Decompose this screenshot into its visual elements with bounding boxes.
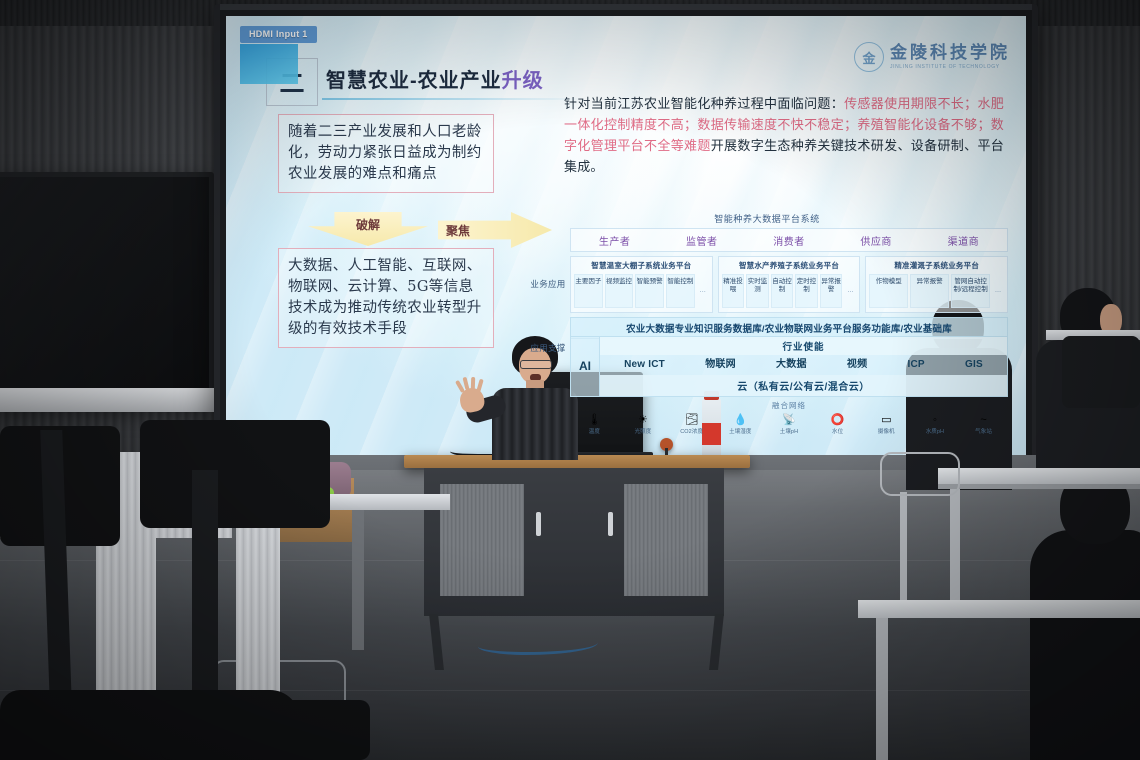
display-bezel [220, 4, 1032, 10]
tech-item: 视频 [847, 360, 867, 371]
panel-cell-ellipsis: … [992, 274, 1004, 308]
podium-panel-right [624, 484, 708, 596]
side-label-support: 应用支撑 [526, 343, 570, 354]
sensor-item: ☀ 光照度 [623, 413, 663, 435]
arrow-down-label: 破解 [356, 216, 380, 233]
sensor-item: 🌡 温度 [574, 413, 614, 435]
camera-icon: ▭ [866, 413, 906, 426]
water-level-icon: ⭕ [818, 413, 858, 426]
podium-handle[interactable] [608, 512, 613, 536]
role-item: 监管者 [686, 233, 718, 248]
desk-right-front [938, 468, 1140, 484]
logo-name-en: JINLING INSTITUTE OF TECHNOLOGY [890, 64, 1010, 70]
foreground-desk-leg [352, 510, 364, 650]
presenter-finger [476, 379, 483, 393]
probe-icon: 📡 [769, 413, 809, 426]
sensor-label: CO2浓度 [672, 427, 712, 435]
chair-post [900, 492, 907, 610]
thermometer-icon: 🌡 [574, 413, 614, 426]
subsystem-panel: 精准灌溉子系统业务平台 作物模型 异常报警 管网自动控制/远程控制 … [865, 256, 1008, 313]
tech-item: ICP [908, 360, 925, 371]
weather-station-icon: ~ [964, 413, 1004, 426]
panel-cell: 实时监测 [746, 274, 769, 308]
desk-edge [938, 484, 1140, 489]
panel-cells: 主要因子 视频监控 智能预警 智能控制 … [574, 274, 709, 308]
arrow-right-label: 聚焦 [446, 222, 470, 239]
sensor-item: ~ 气象站 [964, 413, 1004, 435]
foreground-desk-left [330, 494, 450, 510]
podium-body [424, 468, 724, 616]
tech-item: 物联网 [705, 360, 736, 371]
sun-icon: ☀ [623, 413, 663, 426]
role-item: 供应商 [860, 233, 892, 248]
enablement-stack: AI 行业使能 New ICT 物联网 大数据 视频 ICP GIS 云（私有云… [570, 336, 1008, 398]
logo-name-cn: 金陵科技学院 [890, 44, 1010, 61]
panel-cell-ellipsis: … [697, 274, 709, 308]
sensor-item: ▭ 摄像机 [866, 413, 906, 435]
side-monitor[interactable] [0, 172, 214, 404]
network-label: 融合网络 [570, 400, 1008, 411]
left-text-2: 大数据、人工智能、互联网、物联网、云计算、5G等信息技术成为推动传统农业转型升级… [288, 256, 484, 340]
sensor-label: 水位 [818, 427, 858, 435]
panel-cells: 作物模型 异常报警 管网自动控制/远程控制 … [869, 274, 1004, 308]
diagram-roles-row: 生产者 监管者 消费者 供应商 渠道商 [570, 228, 1008, 252]
presentation-slide: HDMI Input 1 二 智慧农业-农业产业升级 金 金陵科技学院 JINL… [226, 16, 1026, 460]
sensor-label: 温度 [574, 427, 614, 435]
panel-cell: 异常报警 [820, 274, 843, 308]
foreground-chair-bottom2[interactable] [160, 700, 370, 760]
panel-title: 精准灌溉子系统业务平台 [869, 260, 1004, 271]
presenter-finger [471, 377, 475, 390]
subsystem-panels: 智慧温室大棚子系统业务平台 主要因子 视频监控 智能预警 智能控制 … 智慧水产… [570, 256, 1008, 313]
left-text-box-2: 大数据、人工智能、互联网、物联网、云计算、5G等信息技术成为推动传统农业转型升级… [278, 248, 494, 348]
logo-emblem-icon: 金 [854, 42, 884, 72]
left-text-box-1: 随着二三产业发展和人口老龄化，劳动力紧张日益成为制约农业发展的难点和痛点 [278, 114, 494, 193]
hdmi-input-badge: HDMI Input 1 [240, 26, 317, 43]
foreground-chair-mid[interactable] [140, 420, 330, 528]
panel-cell: 视频监控 [605, 274, 634, 308]
classroom-scene: HDMI Input 1 二 智慧农业-农业产业升级 金 金陵科技学院 JINL… [0, 0, 1140, 760]
tech-item: New ICT [624, 360, 665, 371]
panel-cell: 精准投喂 [722, 274, 745, 308]
panel-title: 智慧温室大棚子系统业务平台 [574, 260, 709, 271]
co2-icon: 🌫 [672, 413, 712, 426]
chair-back-right [1062, 336, 1140, 408]
enable-bar: 行业使能 [600, 337, 1007, 355]
subsystem-panel: 智慧温室大棚子系统业务平台 主要因子 视频监控 智能预警 智能控制 … [570, 256, 713, 313]
panel-cell: 管网自动控制/远程控制 [951, 274, 990, 308]
water-drop-icon: 💧 [720, 413, 760, 426]
sensor-item: ◦ 水质pH [915, 413, 955, 435]
chair-rail[interactable] [880, 452, 960, 496]
desk-leg [876, 618, 888, 760]
panel-cells: 精准投喂 实时监测 自动控制 定时控制 异常报警 … [722, 274, 857, 308]
panel-cell: 自动控制 [771, 274, 794, 308]
diagram-title: 智能种养大数据平台系统 [526, 212, 1008, 225]
panel-cell: 异常报警 [910, 274, 949, 308]
right-paragraph: 针对当前江苏农业智能化种养过程中面临问题：传感器使用期限不长；水肥一体化控制精度… [564, 94, 1004, 178]
role-item: 消费者 [773, 233, 805, 248]
student-torso [1030, 530, 1140, 760]
podium-panel-left [440, 484, 524, 596]
panel-cell: 作物模型 [869, 274, 908, 308]
business-application-row: 业务应用 智慧温室大棚子系统业务平台 主要因子 视频监控 智能预警 智能控制 … [526, 256, 1008, 313]
sensor-label: 摄像机 [866, 427, 906, 435]
role-item: 生产者 [599, 233, 631, 248]
role-item: 渠道商 [948, 233, 980, 248]
sensor-label: 光照度 [623, 427, 663, 435]
stack-right: 行业使能 New ICT 物联网 大数据 视频 ICP GIS 云（私有云/公有… [600, 337, 1007, 397]
podium-handle[interactable] [536, 512, 541, 536]
tech-item: GIS [965, 360, 983, 371]
tech-item: 大数据 [776, 360, 807, 371]
sensor-label: 土壤pH [769, 427, 809, 435]
sensor-label: 土壤湿度 [720, 427, 760, 435]
side-monitor-screen [0, 177, 209, 399]
slide-title: 智慧农业-农业产业升级 [326, 64, 544, 93]
ph-meter-icon: ◦ [915, 413, 955, 426]
left-counter [0, 388, 220, 412]
sensor-icon-row: 🌡 温度 ☀ 光照度 🌫 CO2浓度 💧 土壤湿度 [570, 413, 1008, 435]
sensor-item: 🌫 CO2浓度 [672, 413, 712, 435]
sensor-label: 气象站 [964, 427, 1004, 435]
paragraph-lead: 针对当前江苏农业智能化种养过程中面临问题： [564, 97, 844, 112]
sensor-label: 水质pH [915, 427, 955, 435]
title-underline [322, 98, 584, 100]
projection-display[interactable]: HDMI Input 1 二 智慧农业-农业产业升级 金 金陵科技学院 JINL… [214, 4, 1038, 472]
slide-title-main: 智慧农业-农业产业 [326, 70, 502, 92]
ai-label: AI [571, 337, 600, 397]
panel-cell: 智能预警 [635, 274, 664, 308]
sensor-item: 📡 土壤pH [769, 413, 809, 435]
panel-title: 智慧水产养殖子系统业务平台 [722, 260, 857, 271]
panel-cell: 智能控制 [666, 274, 695, 308]
sensor-item: 💧 土壤湿度 [720, 413, 760, 435]
desk-leg [950, 489, 960, 609]
school-logo: 金 金陵科技学院 JINLING INSTITUTE OF TECHNOLOGY [854, 42, 1010, 72]
slide-title-highlight: 升级 [502, 70, 544, 92]
desk-right-foreground [858, 600, 1140, 618]
side-label-business: 业务应用 [526, 256, 570, 313]
hdmi-blue-square [240, 44, 298, 84]
cloud-bar: 云（私有云/公有云/混合云） [600, 375, 1007, 396]
left-text-1: 随着二三产业发展和人口老龄化，劳动力紧张日益成为制约农业发展的难点和痛点 [288, 122, 484, 185]
platform-diagram: 智能种养大数据平台系统 生产者 监管者 消费者 供应商 渠道商 业务应用 智慧温… [526, 212, 1008, 435]
subsystem-panel: 智慧水产养殖子系统业务平台 精准投喂 实时监测 自动控制 定时控制 异常报警 … [718, 256, 861, 313]
panel-cell-ellipsis: … [844, 274, 856, 308]
panel-cell: 主要因子 [574, 274, 603, 308]
panel-cell: 定时控制 [795, 274, 818, 308]
sensor-item: ⭕ 水位 [818, 413, 858, 435]
tech-row: New ICT 物联网 大数据 视频 ICP GIS [600, 355, 1007, 376]
